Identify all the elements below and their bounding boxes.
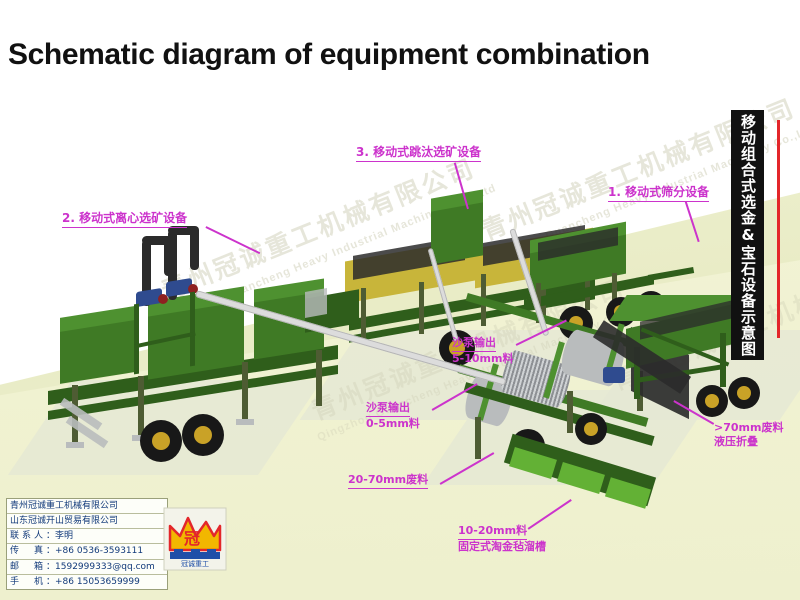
annotation-waste-20-70-line1: 20-70mm废料: [348, 473, 428, 489]
contact-mobile-key: 手 机: [10, 576, 46, 588]
contact-card: 青州冠诚重工机械有限公司 山东冠诚开山贸易有限公司 联系人：李明 传 真：+86…: [6, 498, 168, 590]
contact-mobile-value: ：+86 15053659999: [46, 577, 140, 587]
label-2-centrifugal: 2. 移动式离心选矿设备: [62, 209, 187, 228]
jig-leg-2: [419, 282, 424, 334]
schematic-canvas: 青州冠诚重工机械有限公司 Qingzhou Guancheng Heavy In…: [0, 0, 800, 600]
annotation-sand-pump-0-5-line1: 沙泵输出: [366, 401, 410, 417]
jack-leg-4: [316, 350, 322, 406]
page-title: Schematic diagram of equipment combinati…: [8, 38, 650, 72]
vertical-banner: 移动组合式选金&宝石设备示意图: [731, 110, 764, 360]
contact-row-person: 联系人：李明: [7, 529, 167, 544]
label-1-screening: 1. 移动式筛分设备: [608, 183, 709, 202]
cyclone-tube-right-down: [190, 226, 199, 270]
contact-fax-value: ：+86 0536-3593111: [46, 546, 143, 556]
trommel-leg-1: [475, 417, 481, 459]
annotation-fixed-sluice: 10-20mm料 固定式淘金毡溜槽: [458, 524, 546, 554]
crown-logo: 冠 冠诚重工: [162, 506, 228, 572]
contact-row-email: 邮 箱：1592999333@qq.com: [7, 560, 167, 575]
crown-glyph: 冠: [184, 529, 200, 548]
machine-centrifugal-unit: [30, 250, 360, 480]
feeder-wheel-2: [728, 377, 760, 409]
wheel-left-rear: [140, 420, 182, 462]
pump-inlet-left: [158, 294, 168, 304]
contact-company-1: 青州冠诚重工机械有限公司: [10, 501, 118, 511]
annotation-waste-20-70: 20-70mm废料: [348, 473, 428, 489]
annotation-sand-pump-0-5-line2: 0-5mm料: [366, 417, 420, 431]
feeder-wheel-1: [696, 385, 728, 417]
annotation-waste-over-70-line2: 液压折叠: [714, 435, 783, 449]
contact-person-value: ：李明: [46, 531, 73, 541]
trommel-leg-2: [567, 391, 573, 433]
annotation-waste-over-70-line1: >70mm废料: [714, 421, 783, 435]
jack-foot-1: [66, 442, 84, 448]
annotation-waste-over-70: >70mm废料 液压折叠: [714, 421, 783, 449]
vertical-banner-text: 移动组合式选金&宝石设备示意图: [740, 114, 755, 357]
contact-person-key: 联系人: [10, 530, 46, 542]
logo-base-block-2: [191, 549, 200, 554]
contact-company-2: 山东冠诚开山贸易有限公司: [10, 516, 118, 526]
annotation-fixed-sluice-line1: 10-20mm料: [458, 524, 527, 540]
contact-row-mobile: 手 机：+86 15053659999: [7, 575, 167, 589]
annotation-sand-pump-5-10-line2: 5-10mm料: [452, 352, 513, 366]
logo-base-block-3: [207, 549, 216, 554]
annotation-sand-pump-5-10: 沙泵输出 5-10mm料: [452, 336, 513, 366]
trommel-wheel-2: [575, 413, 607, 445]
contact-row-company-1: 青州冠诚重工机械有限公司: [7, 499, 167, 514]
contact-row-company-2: 山东冠诚开山贸易有限公司: [7, 514, 167, 529]
wheel-left-front: [182, 414, 224, 456]
contact-row-fax: 传 真：+86 0536-3593111: [7, 544, 167, 559]
contact-email-value: ：1592999333@qq.com: [46, 562, 155, 572]
jack-leg-3: [242, 362, 248, 422]
annotation-sand-pump-0-5: 沙泵输出 0-5mm料: [366, 401, 420, 431]
label-3-jig: 3. 移动式跳汰选矿设备: [356, 143, 481, 162]
jack-foot-3: [236, 419, 254, 425]
crown-logo-svg: 冠 冠诚重工: [162, 506, 228, 572]
screen-tow-bar: [648, 267, 694, 281]
banner-red-rule: [777, 120, 780, 338]
logo-base-block-1: [174, 549, 183, 554]
support-tower-2: [190, 292, 195, 367]
annotation-sand-pump-5-10-line1: 沙泵输出: [452, 336, 496, 352]
support-tower: [134, 304, 139, 375]
logo-caption: 冠诚重工: [181, 559, 209, 568]
contact-email-key: 邮 箱: [10, 561, 46, 573]
contact-fax-key: 传 真: [10, 545, 46, 557]
fixed-sluice-launder: [505, 455, 685, 535]
jig-leg-1: [361, 288, 366, 340]
jig-engine-rad: [305, 288, 327, 318]
annotation-fixed-sluice-line2: 固定式淘金毡溜槽: [458, 540, 546, 554]
